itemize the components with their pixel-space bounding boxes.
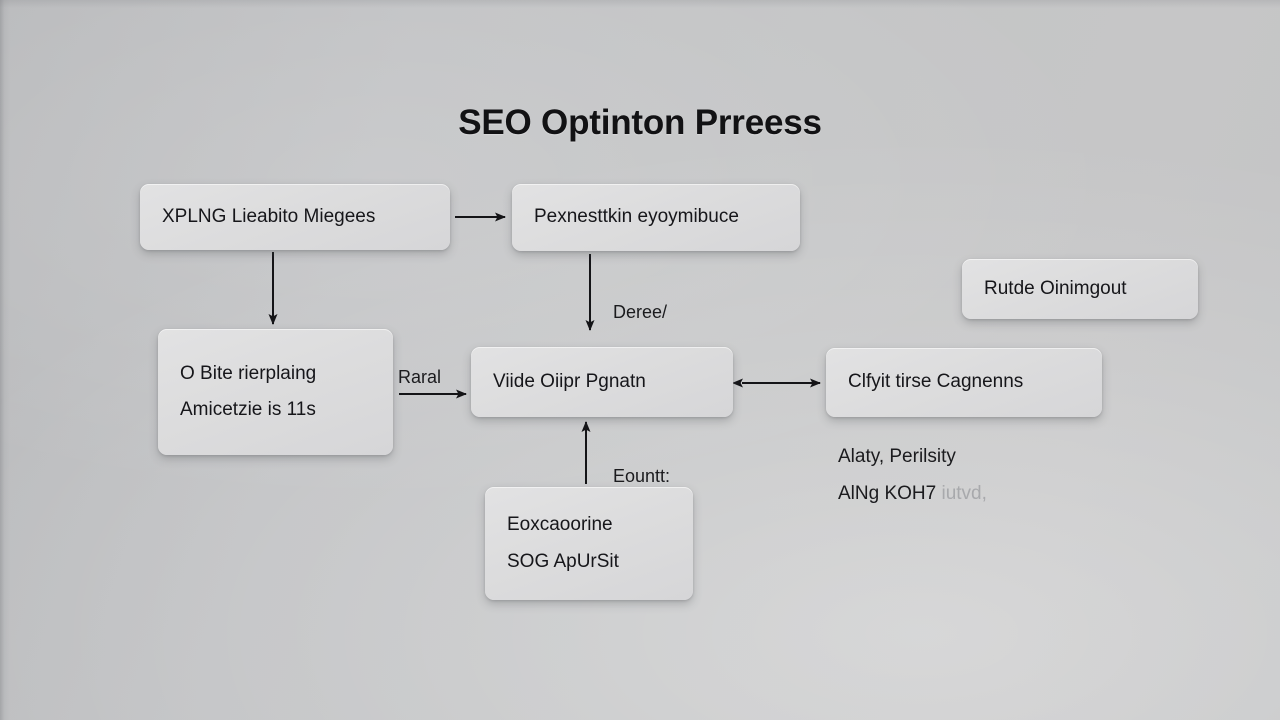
node-backlink-building[interactable]: Eoxcaoorine SOG ApUrSit	[485, 487, 693, 600]
edge-label-onpage-to-optimize: Raral	[398, 367, 441, 388]
annotation-line-2: AlNg KOH7 iutvd,	[838, 475, 987, 512]
node-site-optimization[interactable]: Viide Oiipr Pgnatn	[471, 347, 733, 417]
annotation-line-2-dark: AlNg KOH7	[838, 483, 936, 504]
node-content-campaigns-line-1: Clfyit tirse Cagnenns	[848, 364, 1023, 400]
annotation-block: Alaty, Perilsity AlNg KOH7 iutvd,	[838, 438, 987, 512]
node-site-optimization-line-1: Viide Oiipr Pgnatn	[493, 364, 646, 400]
edge-label-backlink-to-optimize: Eountt:	[613, 466, 670, 487]
annotation-line-2-faded: iutvd,	[941, 483, 986, 504]
node-keyword-research-line-1: XPLNG Lieabito Miegees	[162, 199, 375, 235]
node-site-audit[interactable]: Rutde Oinimgout	[962, 259, 1198, 319]
node-keyword-research[interactable]: XPLNG Lieabito Miegees	[140, 184, 450, 250]
node-on-page-optimization-line-2: Amicetzie is 11s	[180, 392, 316, 428]
node-content-campaigns[interactable]: Clfyit tirse Cagnenns	[826, 348, 1102, 417]
node-backlink-building-line-2: SOG ApUrSit	[507, 544, 619, 580]
node-backlink-building-line-1: Eoxcaoorine	[507, 507, 613, 543]
page-title: SEO Optinton Prreess	[0, 103, 1280, 143]
node-on-page-optimization[interactable]: O Bite rierplaing Amicetzie is 11s	[158, 329, 393, 455]
node-site-audit-line-1: Rutde Oinimgout	[984, 271, 1127, 307]
edge-label-research-to-optimize: Deree/	[613, 302, 667, 323]
node-on-page-optimization-line-1: O Bite rierplaing	[180, 356, 316, 392]
node-competitor-analysis-line-1: Pexnesttkin eyoymibuce	[534, 199, 739, 235]
node-competitor-analysis[interactable]: Pexnesttkin eyoymibuce	[512, 184, 800, 251]
annotation-line-1: Alaty, Perilsity	[838, 438, 987, 475]
